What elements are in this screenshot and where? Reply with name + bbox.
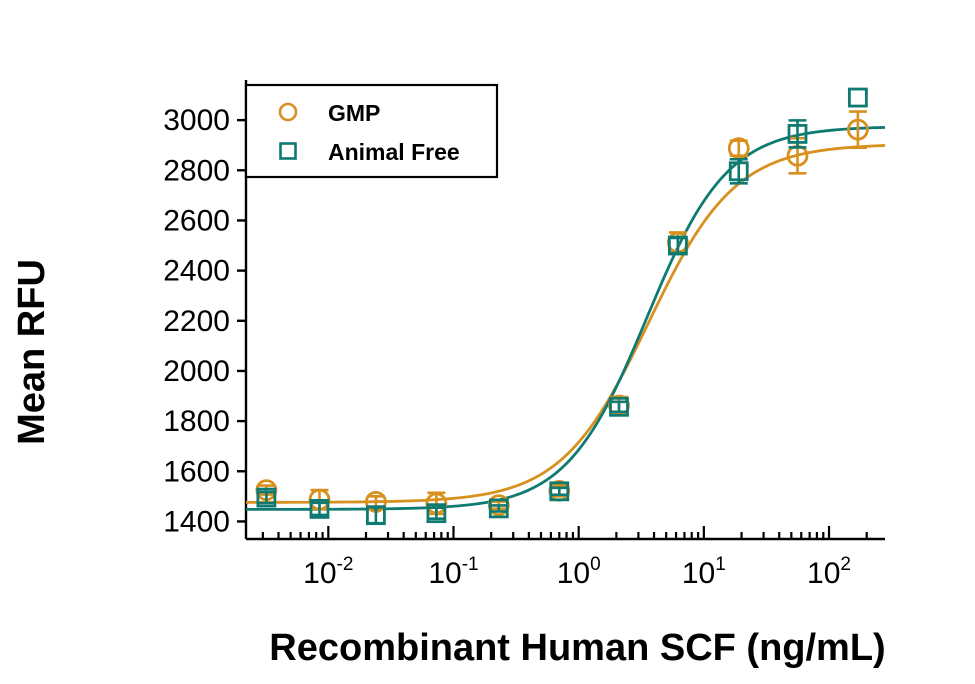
x-tick-exponent: 1	[715, 554, 726, 575]
x-tick-exponent: 0	[590, 554, 601, 575]
x-tick-label: 101	[682, 554, 726, 590]
x-tick-label: 10-1	[428, 554, 478, 590]
x-tick-base: 10	[557, 557, 590, 590]
dose-response-plot: 14001600180020002200240026002800300010-2…	[0, 0, 975, 684]
axis-labels-group: Mean RFURecombinant Human SCF (ng/mL)	[11, 259, 886, 669]
y-tick-label: 2800	[163, 154, 230, 187]
y-tick-label: 1400	[163, 505, 230, 538]
x-tick-label: 10-2	[303, 554, 353, 590]
x-tick-exponent: -1	[462, 554, 479, 575]
y-tick-label: 2400	[163, 255, 230, 288]
y-tick-label: 1600	[163, 455, 230, 488]
x-tick-base: 10	[428, 557, 461, 590]
x-tick-label: 100	[557, 554, 601, 590]
y-axis-title: Mean RFU	[11, 259, 53, 445]
x-tick-base: 10	[807, 557, 840, 590]
legend-label: GMP	[328, 100, 380, 126]
chart-legend: GMPAnimal Free	[246, 85, 497, 177]
fit-curve-animal-free	[246, 127, 885, 509]
x-tick-label: 102	[807, 554, 851, 590]
data-point-square	[849, 89, 866, 106]
y-tick-label: 2200	[163, 305, 230, 338]
x-axis-title: Recombinant Human SCF (ng/mL)	[269, 627, 885, 669]
y-tick-label: 2000	[163, 355, 230, 388]
x-tick-exponent: 2	[840, 554, 851, 575]
y-tick-label: 2600	[163, 204, 230, 237]
chart-figure: 14001600180020002200240026002800300010-2…	[0, 0, 975, 684]
y-tick-label: 3000	[163, 104, 230, 137]
legend-label: Animal Free	[328, 139, 460, 165]
x-tick-base: 10	[303, 557, 336, 590]
x-tick-exponent: -2	[337, 554, 354, 575]
fit-curve-gmp	[246, 145, 885, 502]
y-tick-label: 1800	[163, 405, 230, 438]
x-tick-base: 10	[682, 557, 715, 590]
